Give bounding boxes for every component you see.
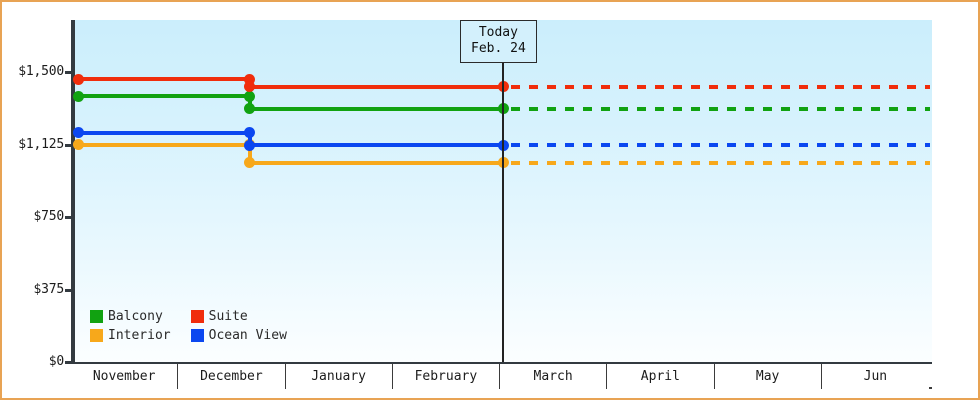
y-tick-label-wrap: $1,500	[2, 65, 64, 79]
legend-swatch-icon	[90, 329, 103, 342]
y-tick-mark	[65, 216, 74, 219]
series-segment-ocean-view	[76, 131, 250, 135]
legend-label: Suite	[209, 310, 248, 323]
series-segment-suite	[76, 77, 250, 81]
legend-label: Interior	[108, 329, 171, 342]
y-tick-label: $1,125	[6, 138, 64, 151]
y-tick-label: $1,500	[6, 65, 64, 78]
month-label-jun[interactable]: Jun	[822, 364, 929, 389]
month-label-may[interactable]: May	[715, 364, 822, 389]
series-segment-interior	[76, 143, 250, 147]
data-point-balcony[interactable]	[244, 91, 255, 102]
series-segment-balcony	[250, 107, 503, 111]
y-tick-mark	[65, 289, 74, 292]
y-tick-label-wrap: $750	[2, 210, 64, 224]
y-tick-label: $0	[6, 355, 64, 368]
today-vertical-line	[502, 20, 504, 362]
today-label-line1: Today	[471, 25, 526, 41]
forecast-line-ocean-view	[511, 143, 930, 147]
data-point-interior[interactable]	[73, 139, 84, 150]
y-tick-label-wrap: $1,125	[2, 138, 64, 152]
legend-swatch-icon	[191, 329, 204, 342]
month-label-march[interactable]: March	[500, 364, 607, 389]
today-label-line2: Feb. 24	[471, 41, 526, 57]
series-segment-suite	[250, 85, 503, 89]
data-point-ocean-view[interactable]	[73, 127, 84, 138]
forecast-line-balcony	[511, 107, 930, 111]
legend-swatch-icon	[90, 310, 103, 323]
legend-swatch-icon	[191, 310, 204, 323]
month-label-february[interactable]: February	[393, 364, 500, 389]
x-axis-month-band: NovemberDecemberJanuaryFebruaryMarchApri…	[71, 364, 932, 389]
month-label-december[interactable]: December	[178, 364, 285, 389]
legend-label: Balcony	[108, 310, 163, 323]
data-point-balcony[interactable]	[73, 91, 84, 102]
chart-frame: $0$375$750$1,125$1,500 Today Feb. 24 Bal…	[0, 0, 980, 400]
y-tick-label-wrap: $375	[2, 283, 64, 297]
forecast-line-suite	[511, 85, 930, 89]
y-tick-label: $375	[6, 283, 64, 296]
y-tick-mark	[65, 71, 74, 74]
y-tick-label: $750	[6, 210, 64, 223]
legend-item-ocean-view[interactable]: Ocean View	[191, 329, 287, 342]
data-point-ocean-view[interactable]	[244, 140, 255, 151]
series-segment-ocean-view	[250, 143, 503, 147]
legend-label: Ocean View	[209, 329, 287, 342]
series-segment-interior	[250, 161, 503, 165]
legend-item-balcony[interactable]: Balcony	[90, 310, 171, 323]
data-point-suite[interactable]	[73, 74, 84, 85]
month-label-april[interactable]: April	[607, 364, 714, 389]
legend-item-suite[interactable]: Suite	[191, 310, 287, 323]
today-annotation-box: Today Feb. 24	[460, 20, 537, 63]
chart-legend: BalconySuiteInteriorOcean View	[90, 310, 287, 342]
series-segment-balcony	[76, 94, 250, 98]
forecast-line-interior	[511, 161, 930, 165]
y-tick-label-wrap: $0	[2, 355, 64, 369]
month-label-january[interactable]: January	[286, 364, 393, 389]
month-label-november[interactable]: November	[71, 364, 178, 389]
legend-item-interior[interactable]: Interior	[90, 329, 171, 342]
